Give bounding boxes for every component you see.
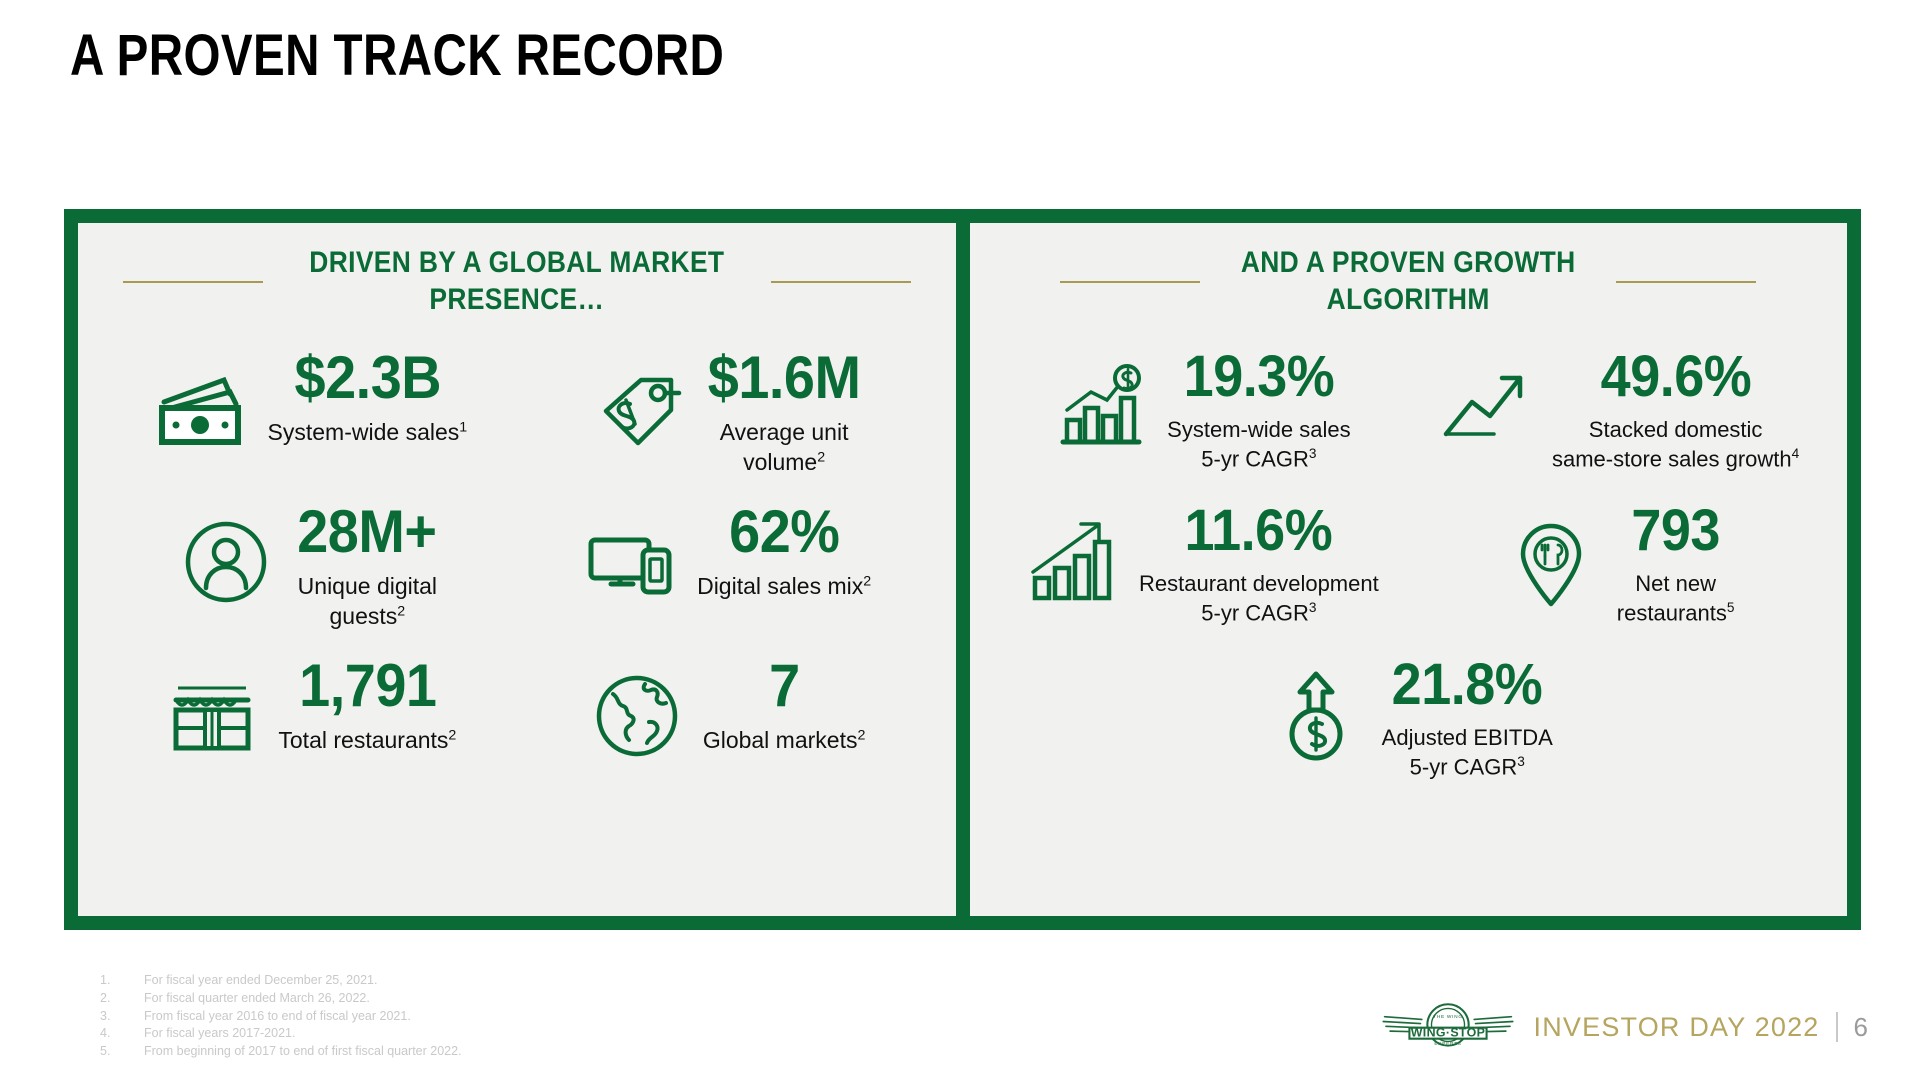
footnote-text: From beginning of 2017 to end of first f… bbox=[144, 1043, 462, 1061]
slide-footer: WING·STOP THE WING EXPERTS INVESTOR DAY … bbox=[1378, 996, 1869, 1058]
left-panel: DRIVEN BY A GLOBAL MARKET PRESENCE… bbox=[78, 223, 956, 916]
stat-item: 19.3% System-wide sales 5-yr CAGR3 bbox=[992, 338, 1409, 488]
stat-item: 28M+ Unique digital guests2 bbox=[100, 492, 517, 642]
stat-value: $2.3B bbox=[294, 348, 441, 408]
storefront-icon bbox=[160, 664, 264, 768]
stat-item: $1.6M Average unit volume2 bbox=[517, 338, 934, 488]
stat-item: 49.6% Stacked domestic same-store sales … bbox=[1408, 338, 1825, 488]
stat-text: $2.3B System-wide sales1 bbox=[268, 348, 468, 448]
right-panel-heading: AND A PROVEN GROWTH ALGORITHM bbox=[1241, 245, 1576, 318]
right-panel-header: AND A PROVEN GROWTH ALGORITHM bbox=[988, 245, 1830, 318]
stat-label: Adjusted EBITDA 5-yr CAGR3 bbox=[1382, 724, 1553, 782]
left-panel-header: DRIVEN BY A GLOBAL MARKET PRESENCE… bbox=[96, 245, 938, 318]
right-panel: AND A PROVEN GROWTH ALGORITHM bbox=[970, 223, 1848, 916]
footnote-item: 1.For fiscal year ended December 25, 202… bbox=[100, 972, 462, 990]
stat-value: 62% bbox=[729, 502, 839, 562]
stat-value: 28M+ bbox=[298, 502, 437, 562]
stat-value: 49.6% bbox=[1600, 348, 1751, 406]
footnote-item: 3.From fiscal year 2016 to end of fiscal… bbox=[100, 1008, 462, 1026]
stat-value: 19.3% bbox=[1184, 348, 1335, 406]
stat-label: Unique digital guests2 bbox=[298, 572, 437, 632]
decorative-rule-left bbox=[1060, 281, 1200, 283]
stat-value: 7 bbox=[769, 656, 800, 716]
stat-label: Average unit volume2 bbox=[720, 418, 849, 478]
svg-text:EXPERTS: EXPERTS bbox=[1434, 1041, 1461, 1047]
left-stat-grid: $2.3B System-wide sales1 bbox=[96, 328, 938, 796]
monitor-phone-icon bbox=[579, 510, 683, 614]
stat-label: System-wide sales1 bbox=[268, 418, 468, 448]
page-title: A PROVEN TRACK RECORD bbox=[70, 22, 724, 89]
stat-label: Global markets2 bbox=[703, 726, 866, 756]
footnote-text: For fiscal years 2017-2021. bbox=[144, 1025, 295, 1043]
stat-text: 1,791 Total restaurants2 bbox=[278, 656, 456, 756]
stat-label: Total restaurants2 bbox=[278, 726, 456, 756]
stat-text: 11.6% Restaurant development 5-yr CAGR3 bbox=[1139, 502, 1379, 628]
footnote-item: 2.For fiscal quarter ended March 26, 202… bbox=[100, 990, 462, 1008]
price-tag-dollar-icon bbox=[584, 356, 688, 460]
stat-item: 62% Digital sales mix2 bbox=[517, 492, 934, 642]
stat-item: 1,791 Total restaurants2 bbox=[100, 646, 517, 796]
footnote-item: 5.From beginning of 2017 to end of first… bbox=[100, 1043, 462, 1061]
wingstop-logo-icon: WING·STOP THE WING EXPERTS bbox=[1378, 996, 1518, 1058]
slide-root: A PROVEN TRACK RECORD DRIVEN BY A GLOBAL… bbox=[0, 0, 1920, 1080]
footnote-number: 5. bbox=[100, 1043, 144, 1061]
stat-label: Net new restaurants5 bbox=[1617, 570, 1735, 628]
dollar-circle-arrow-up-icon bbox=[1264, 664, 1368, 768]
stat-value: 21.8% bbox=[1392, 656, 1543, 714]
cash-bills-icon bbox=[150, 356, 254, 460]
stat-text: 21.8% Adjusted EBITDA 5-yr CAGR3 bbox=[1382, 656, 1553, 782]
stat-text: 49.6% Stacked domestic same-store sales … bbox=[1552, 348, 1799, 474]
footnote-text: For fiscal quarter ended March 26, 2022. bbox=[144, 990, 370, 1008]
stat-item: 7 Global markets2 bbox=[517, 646, 934, 796]
trend-arrow-up-icon bbox=[1434, 356, 1538, 460]
left-panel-heading: DRIVEN BY A GLOBAL MARKET PRESENCE… bbox=[309, 245, 724, 318]
footnote-number: 1. bbox=[100, 972, 144, 990]
footer-event-label: INVESTOR DAY 2022 bbox=[1534, 1012, 1820, 1043]
stat-value: 11.6% bbox=[1185, 502, 1333, 560]
decorative-rule-left bbox=[123, 281, 263, 283]
content-frame: DRIVEN BY A GLOBAL MARKET PRESENCE… bbox=[64, 209, 1861, 930]
stat-label: System-wide sales 5-yr CAGR3 bbox=[1167, 416, 1350, 474]
decorative-rule-right bbox=[1616, 281, 1756, 283]
stat-text: 62% Digital sales mix2 bbox=[697, 502, 871, 602]
stat-text: 793 Net new restaurants5 bbox=[1617, 502, 1735, 628]
footnote-number: 2. bbox=[100, 990, 144, 1008]
stat-text: 7 Global markets2 bbox=[703, 656, 866, 756]
page-number: 6 bbox=[1854, 1012, 1868, 1043]
bar-chart-dollar-icon bbox=[1049, 356, 1153, 460]
svg-text:WING·STOP: WING·STOP bbox=[1410, 1026, 1484, 1040]
svg-text:THE WING: THE WING bbox=[1433, 1014, 1463, 1020]
stat-item: 11.6% Restaurant development 5-yr CAGR3 bbox=[992, 492, 1409, 642]
footnote-text: From fiscal year 2016 to end of fiscal y… bbox=[144, 1008, 411, 1026]
stat-item: 21.8% Adjusted EBITDA 5-yr CAGR3 bbox=[992, 646, 1826, 796]
stat-label: Digital sales mix2 bbox=[697, 572, 871, 602]
right-stat-grid: 19.3% System-wide sales 5-yr CAGR3 bbox=[988, 328, 1830, 796]
decorative-rule-right bbox=[771, 281, 911, 283]
stat-item: $2.3B System-wide sales1 bbox=[100, 338, 517, 488]
footnote-text: For fiscal year ended December 25, 2021. bbox=[144, 972, 377, 990]
stat-label: Stacked domestic same-store sales growth… bbox=[1552, 416, 1799, 474]
stat-text: 19.3% System-wide sales 5-yr CAGR3 bbox=[1167, 348, 1350, 474]
footer-divider bbox=[1836, 1012, 1838, 1042]
stat-text: 28M+ Unique digital guests2 bbox=[292, 502, 442, 632]
globe-icon bbox=[585, 664, 689, 768]
footnote-number: 4. bbox=[100, 1025, 144, 1043]
stat-value: 1,791 bbox=[299, 656, 436, 716]
stat-value: $1.6M bbox=[708, 348, 861, 408]
map-pin-utensils-icon bbox=[1499, 510, 1603, 614]
stat-label: Restaurant development 5-yr CAGR3 bbox=[1139, 570, 1379, 628]
stat-text: $1.6M Average unit volume2 bbox=[702, 348, 866, 478]
footnote-number: 3. bbox=[100, 1008, 144, 1026]
footnote-item: 4.For fiscal years 2017-2021. bbox=[100, 1025, 462, 1043]
user-circle-icon bbox=[174, 510, 278, 614]
stat-value: 793 bbox=[1631, 502, 1720, 560]
bar-chart-arrow-icon bbox=[1021, 510, 1125, 614]
stat-item: 793 Net new restaurants5 bbox=[1408, 492, 1825, 642]
footnote-list: 1.For fiscal year ended December 25, 202… bbox=[100, 972, 462, 1061]
